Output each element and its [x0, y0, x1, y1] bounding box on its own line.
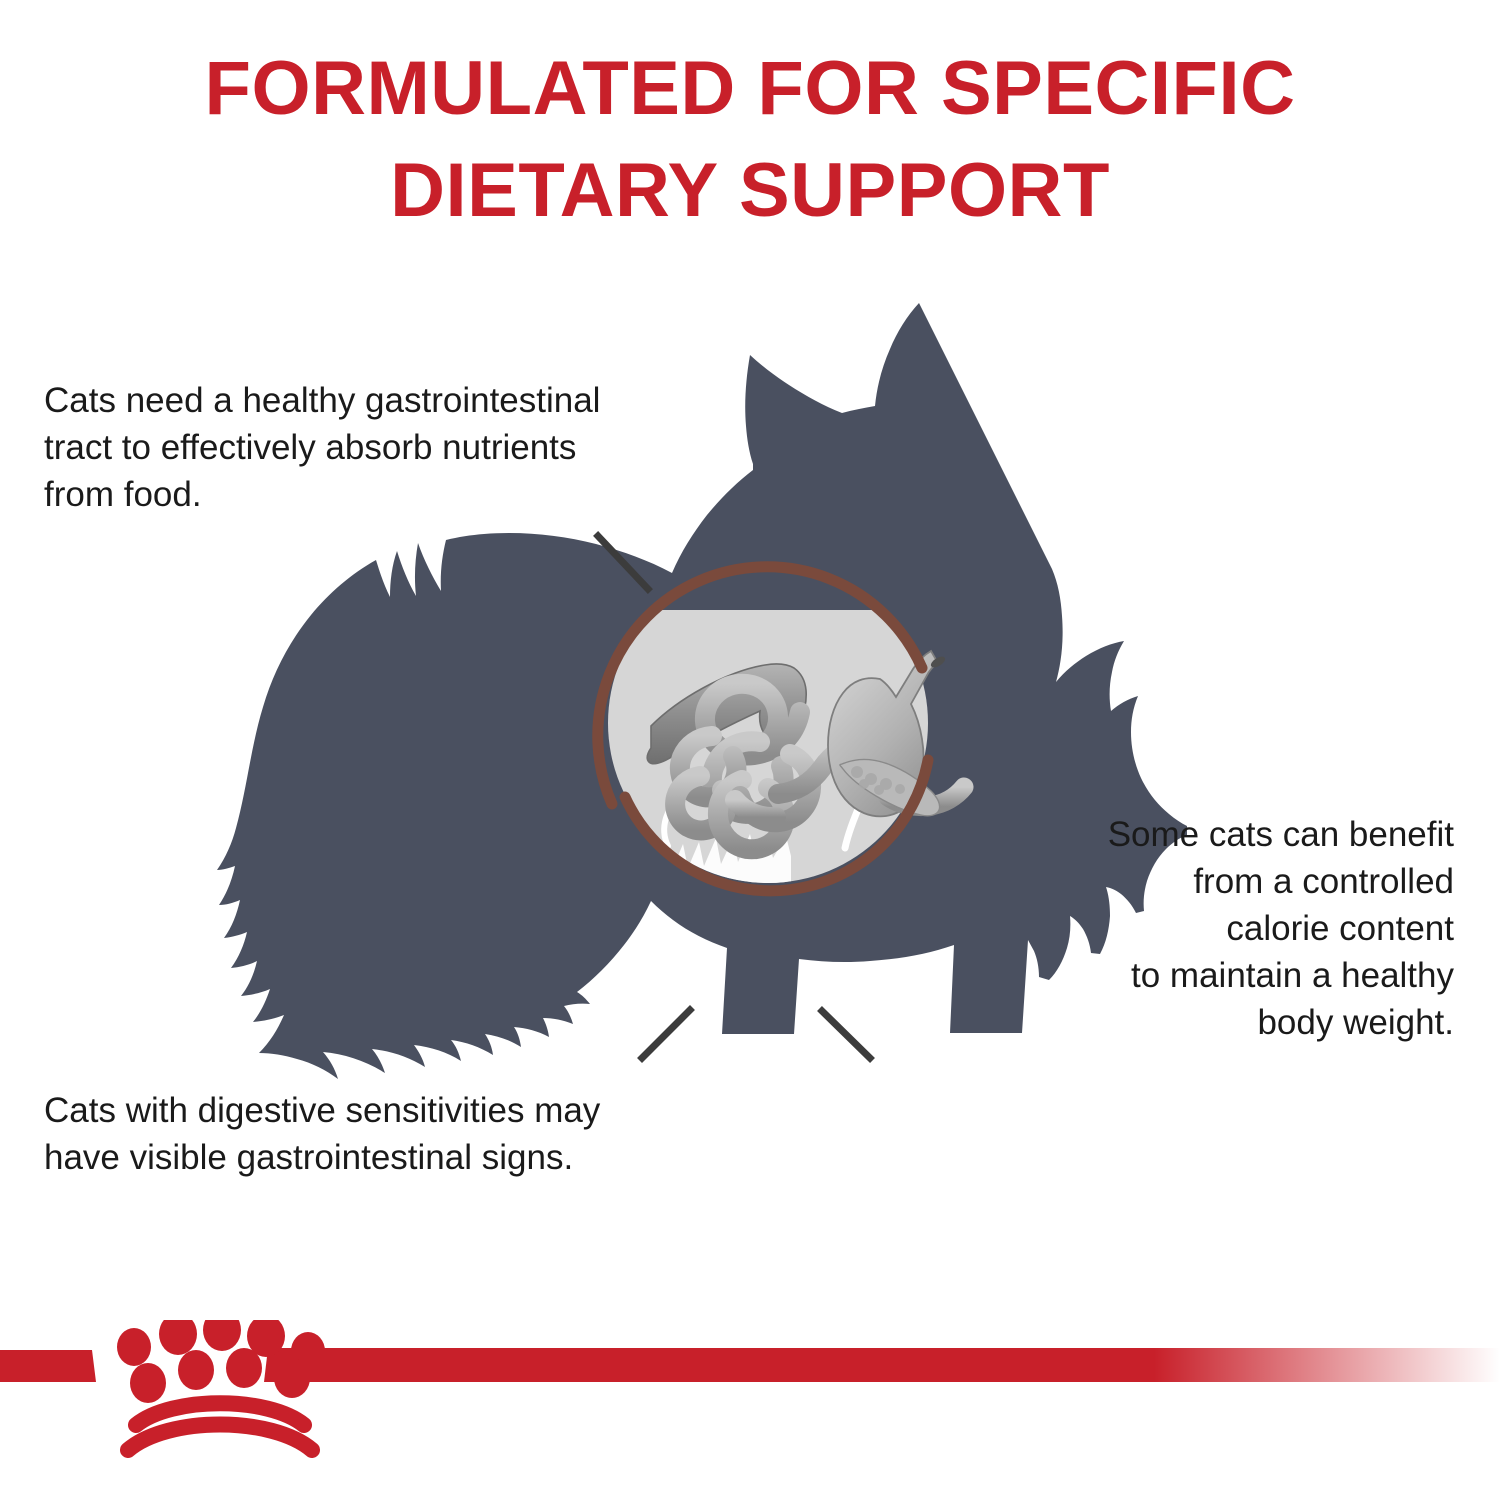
callout-right: Some cats can benefit from a controlled …	[1014, 812, 1454, 1046]
brand-bar-right	[264, 1348, 1500, 1382]
infographic-page: FORMULATED FOR SPECIFIC DIETARY SUPPORT	[0, 0, 1500, 1500]
cat-illustration	[0, 0, 1500, 1500]
brand-footer	[0, 1320, 1500, 1500]
callout-bottom-left: Cats with digestive sensitivities may ha…	[44, 1088, 744, 1182]
callout-top-left: Cats need a healthy gastrointestinal tra…	[44, 378, 744, 519]
royal-canin-crown	[117, 1320, 325, 1450]
brand-bar-left	[0, 1350, 96, 1382]
